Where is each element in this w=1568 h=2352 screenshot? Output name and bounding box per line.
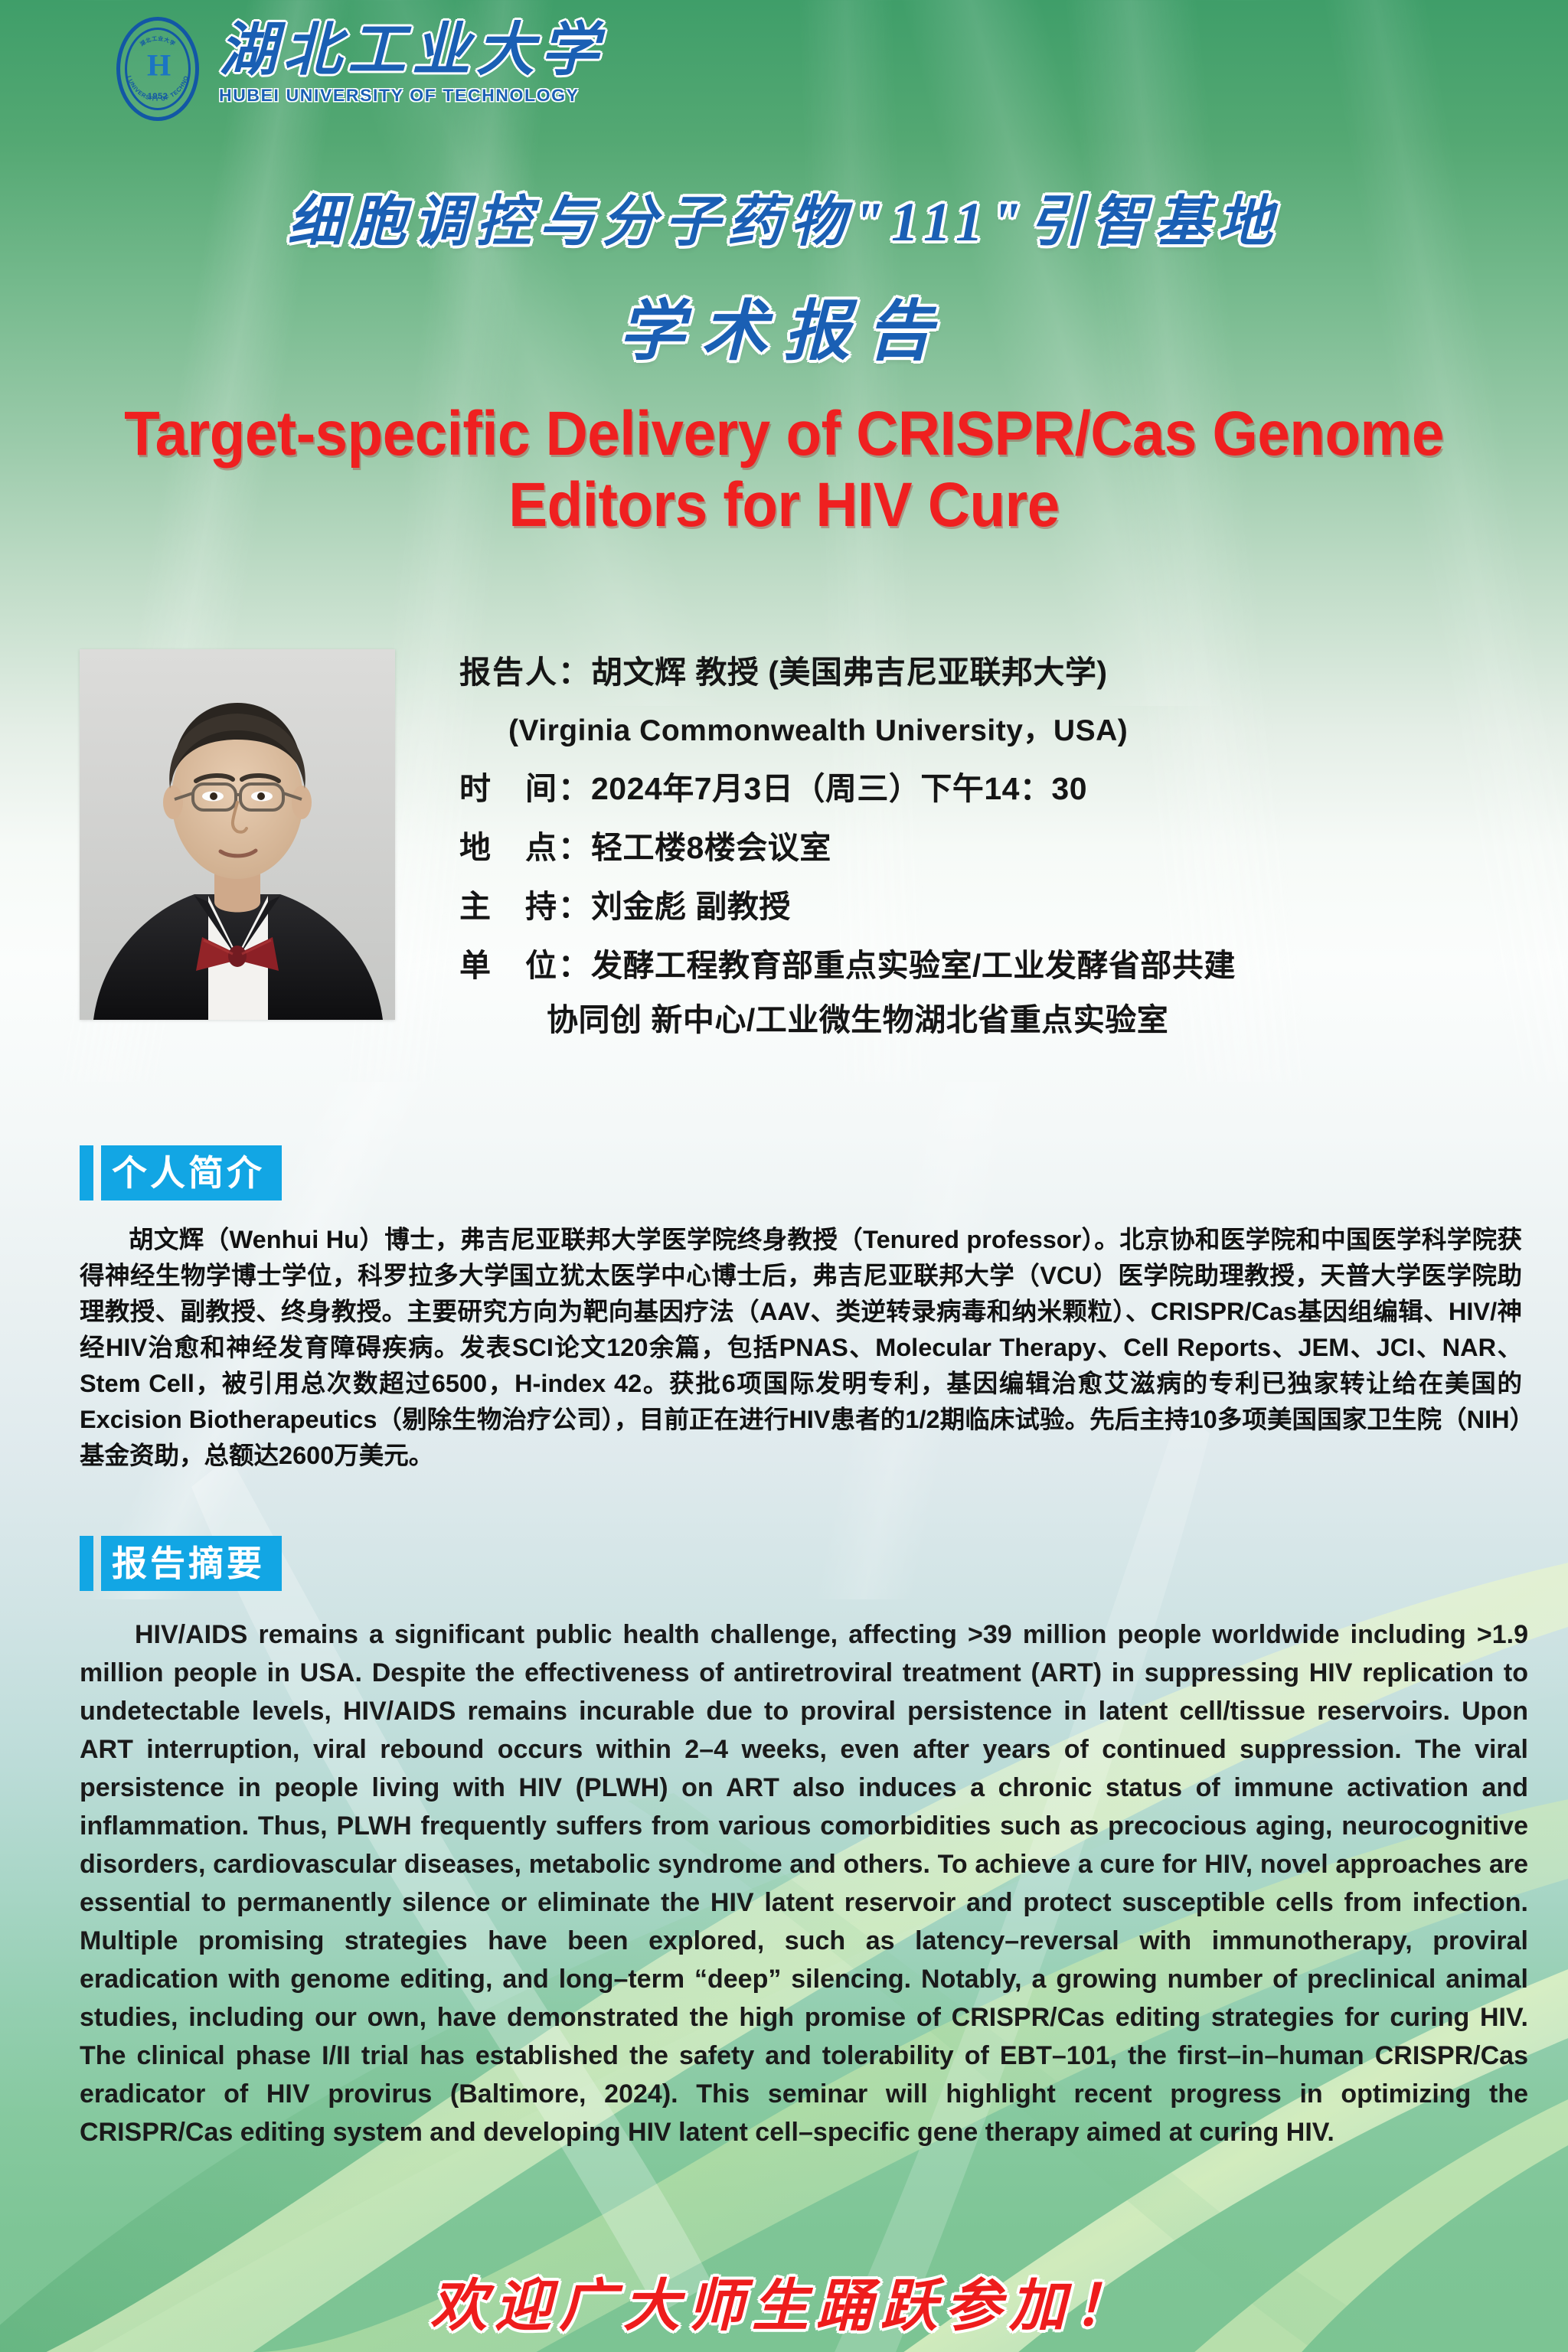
host-label: 主 持： (459, 889, 591, 924)
bio-paragraph: 胡文辉（Wenhui Hu）博士，弗吉尼亚联邦大学医学院终身教授（Tenured… (80, 1222, 1522, 1474)
section-header-bio: 个人简介 (80, 1145, 282, 1200)
speaker-label: 报告人： (459, 655, 591, 690)
section-header-abstract: 报告摘要 (80, 1536, 282, 1591)
time-label: 时 间： (459, 771, 591, 806)
svg-text:HUBEI UNIVERSITY OF TECHNOLOGY: HUBEI UNIVERSITY OF TECHNOLOGY (116, 17, 190, 103)
page-title-line1: Target-specific Delivery of CRISPR/Cas G… (97, 398, 1470, 469)
unit-value: 发酵工程教育部重点实验室/工业发酵省部共建 (591, 948, 1236, 983)
crest-arc-bottom-label: HUBEI UNIVERSITY OF TECHNOLOGY (116, 17, 190, 103)
host-value: 刘金彪 副教授 (591, 889, 791, 924)
page-title: Target-specific Delivery of CRISPR/Cas G… (97, 398, 1470, 541)
university-crest-icon: 湖北工业大学 H 1952 HUBEI UNIVERSITY OF TECHNO… (116, 17, 199, 121)
program-banner-line2: 学术报告 (0, 277, 1568, 373)
university-name-cn: 湖北工业大学 (219, 21, 605, 80)
welcome-message: 欢迎广大师生踊跃参加！ (0, 2260, 1568, 2342)
abstract-paragraph: HIV/AIDS remains a significant public he… (80, 1615, 1528, 2151)
page-title-line2: Editors for HIV Cure (97, 469, 1470, 541)
unit-label: 单 位： (459, 948, 591, 983)
host-line: 主 持：刘金彪 副教授 (459, 891, 1531, 923)
speaker-affiliation-line: (Virginia Commonwealth University，USA) (459, 716, 1531, 746)
speaker-photo (80, 649, 395, 1020)
time-value: 2024年7月3日（周三）下午14：30 (591, 771, 1087, 806)
program-banner-line1: 细胞调控与分子药物"111"引智基地 (0, 176, 1568, 256)
unit-line-continued: 协同创 新中心/工业微生物湖北省重点实验室 (459, 1004, 1531, 1036)
place-line: 地 点：轻工楼8楼会议室 (459, 832, 1531, 864)
event-details: 报告人：胡文辉 教授 (美国弗吉尼亚联邦大学) (Virginia Common… (459, 657, 1531, 1063)
place-value: 轻工楼8楼会议室 (591, 830, 831, 865)
place-label: 地 点： (459, 830, 591, 865)
abstract-heading-label: 报告摘要 (101, 1536, 282, 1591)
university-wordmark: 湖北工业大学 HUBEI UNIVERSITY OF TECHNOLOGY (219, 17, 605, 106)
university-name-en: HUBEI UNIVERSITY OF TECHNOLOGY (219, 86, 612, 106)
bio-heading-label: 个人简介 (101, 1145, 282, 1200)
speaker-line: 报告人：胡文辉 教授 (美国弗吉尼亚联邦大学) (459, 657, 1531, 688)
university-logo: 湖北工业大学 H 1952 HUBEI UNIVERSITY OF TECHNO… (116, 17, 605, 121)
abstract-accent-bar-icon (80, 1536, 93, 1591)
time-line: 时 间：2024年7月3日（周三）下午14：30 (459, 773, 1531, 805)
unit-line: 单 位：发酵工程教育部重点实验室/工业发酵省部共建 (459, 950, 1531, 982)
speaker-value: 胡文辉 教授 (美国弗吉尼亚联邦大学) (591, 655, 1108, 690)
bio-accent-bar-icon (80, 1145, 93, 1200)
